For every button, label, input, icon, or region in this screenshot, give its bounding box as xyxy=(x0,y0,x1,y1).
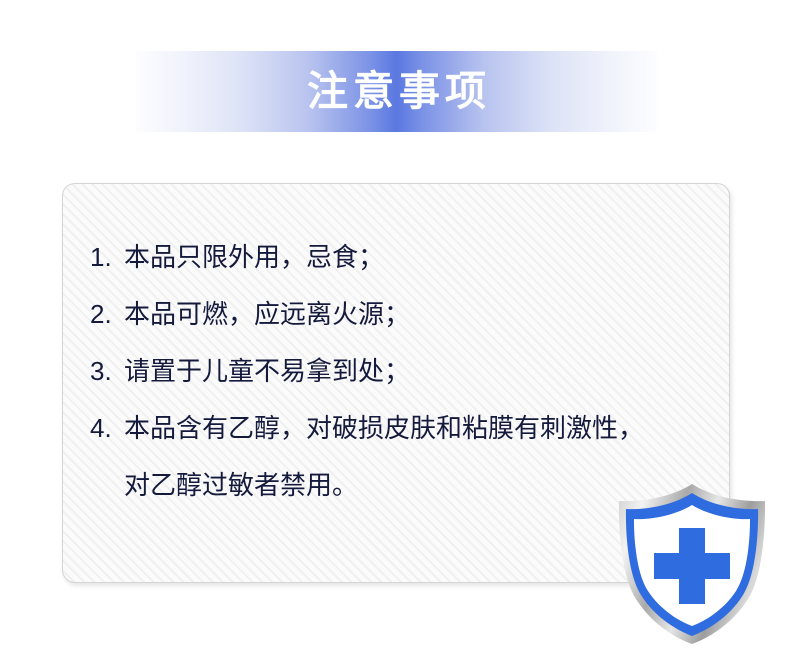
list-item-line: 本品可燃，应远离火源； xyxy=(124,286,721,343)
list-item: 2. 本品可燃，应远离火源； xyxy=(90,286,721,343)
title-banner: 注意事项 xyxy=(136,51,657,132)
list-item-body: 本品可燃，应远离火源； xyxy=(124,286,721,343)
list-item: 1. 本品只限外用，忌食； xyxy=(90,229,721,286)
shield-cross-icon xyxy=(612,481,772,647)
list-item-body: 请置于儿童不易拿到处； xyxy=(124,343,721,400)
list-item: 3. 请置于儿童不易拿到处； xyxy=(90,343,721,400)
list-item-body: 本品只限外用，忌食； xyxy=(124,229,721,286)
list-item-line: 本品只限外用，忌食； xyxy=(124,229,721,286)
list-item-line: 本品含有乙醇，对破损皮肤和粘膜有刺激性， xyxy=(124,400,721,457)
list-item-number: 3. xyxy=(90,343,124,400)
list-item-number: 4. xyxy=(90,400,124,457)
list-item-number: 1. xyxy=(90,229,124,286)
list-item-line: 请置于儿童不易拿到处； xyxy=(124,343,721,400)
notice-list: 1. 本品只限外用，忌食； 2. 本品可燃，应远离火源； 3. 请置于儿童不易拿… xyxy=(90,229,721,514)
notice-page: 注意事项 1. 本品只限外用，忌食； 2. 本品可燃，应远离火源； 3. 请置于… xyxy=(0,0,792,653)
list-item-number: 2. xyxy=(90,286,124,343)
page-title: 注意事项 xyxy=(302,71,491,112)
